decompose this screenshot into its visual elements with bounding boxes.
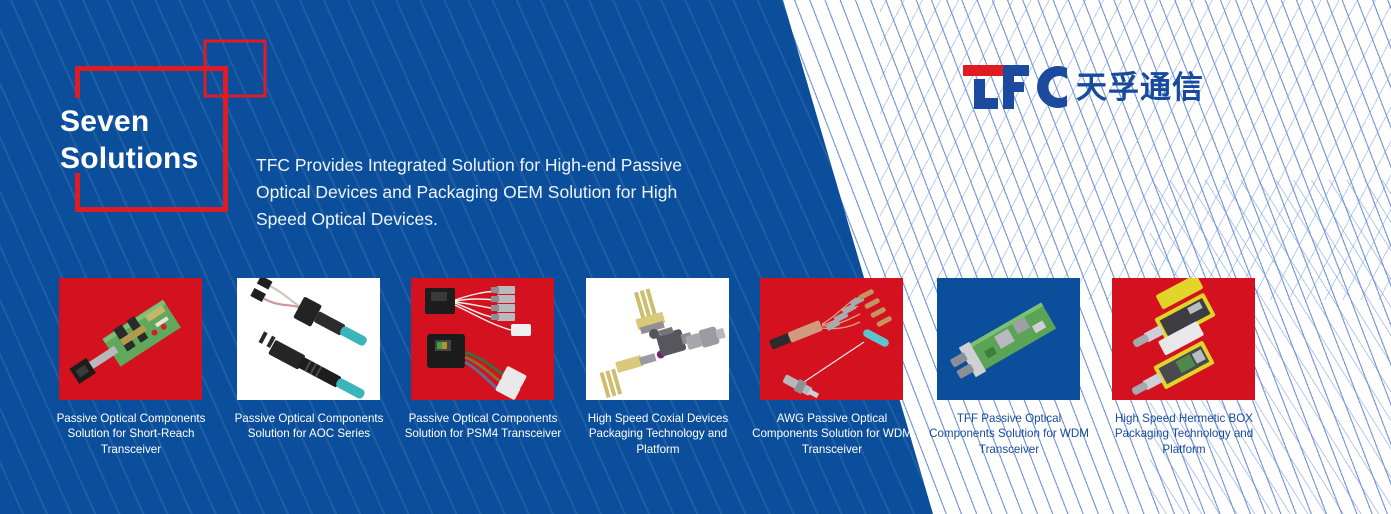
card-thumbnail [411,278,554,400]
headline-line-1: Seven [60,105,149,138]
card-thumbnail [760,278,903,400]
card-caption: Passive Optical Components Solution for … [47,411,215,457]
psm4-fiber-harness-photo [411,278,554,400]
aoc-connector-cables-photo [237,278,380,400]
card-caption: High Speed Coxial Devices Packaging Tech… [574,411,742,457]
card-caption: TFF Passive Optical Components Solution … [925,411,1093,457]
solution-cards-row: Passive Optical Components Solution for … [0,278,1391,488]
hermetic-gold-box-package-photo [1112,278,1255,400]
tff-green-pcb-module-photo [937,278,1080,400]
card-caption: Passive Optical Components Solution for … [399,411,567,442]
marketing-banner: Seven Solutions TFC Provides Integrated … [0,0,1391,514]
solution-card-hermetic-box-packaging[interactable]: High Speed Hermetic BOX Packaging Techno… [1112,278,1255,457]
card-caption: Passive Optical Components Solution for … [225,411,393,442]
card-caption: High Speed Hermetic BOX Packaging Techno… [1100,411,1268,457]
solution-card-short-reach-transceiver[interactable]: Passive Optical Components Solution for … [59,278,202,457]
card-caption: AWG Passive Optical Components Solution … [748,411,916,457]
card-thumbnail [586,278,729,400]
logo-chinese-wordmark: 天孚通信 [1076,72,1204,103]
solution-card-aoc-series[interactable]: Passive Optical Components Solution for … [237,278,380,442]
solution-card-psm4-transceiver[interactable]: Passive Optical Components Solution for … [411,278,554,442]
tfc-logomark-icon [963,65,1067,109]
card-thumbnail [237,278,380,400]
card-thumbnail [937,278,1080,400]
card-thumbnail [59,278,202,400]
solution-card-awg-wdm-transceiver[interactable]: AWG Passive Optical Components Solution … [760,278,903,457]
intro-paragraph: TFC Provides Integrated Solution for Hig… [256,152,708,233]
tfc-logo[interactable]: 天孚通信 [963,63,1213,111]
green-pcb-transceiver-photo [59,278,202,400]
solution-card-high-speed-coaxial[interactable]: High Speed Coxial Devices Packaging Tech… [586,278,729,457]
card-thumbnail [1112,278,1255,400]
coaxial-to-can-devices-photo [586,278,729,400]
solution-card-tff-wdm-transceiver[interactable]: TFF Passive Optical Components Solution … [937,278,1080,457]
awg-fiber-array-photo [760,278,903,400]
